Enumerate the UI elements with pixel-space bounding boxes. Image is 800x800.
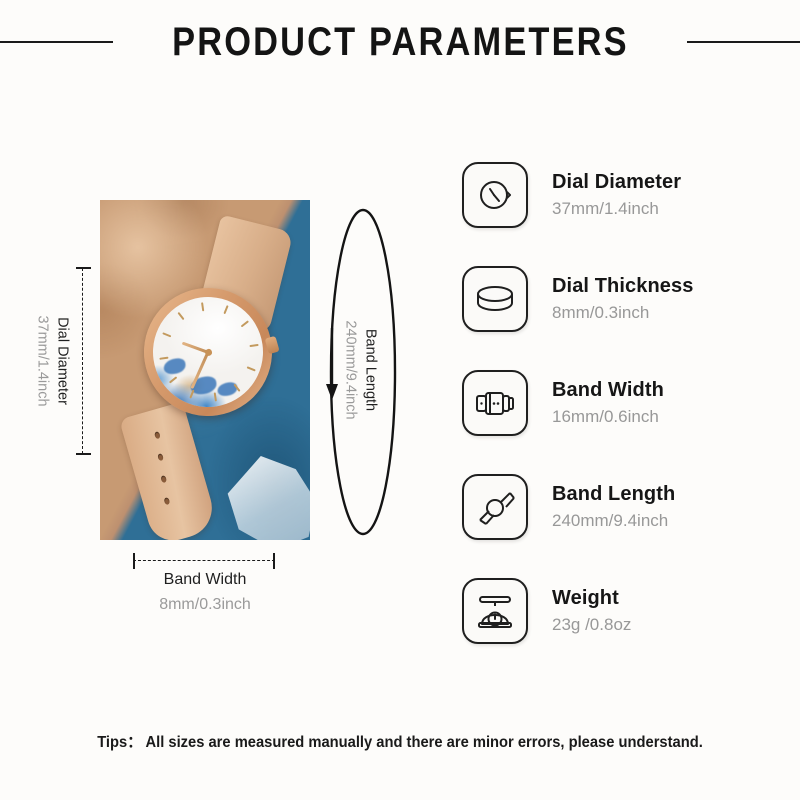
watch-dial-icon (462, 162, 528, 228)
band-width-callout: Band Width 8mm/0.3inch (80, 568, 330, 618)
dial-diameter-dimension-line (82, 268, 83, 454)
page-title-row: PRODUCT PARAMETERS (0, 14, 800, 70)
spec-label: Weight (552, 585, 631, 611)
spec-label: Band Width (552, 377, 664, 403)
spec-text-band-width: Band Width 16mm/0.6inch (552, 377, 664, 428)
spec-value: 37mm/1.4inch (552, 198, 681, 220)
title-rule-right (687, 41, 800, 43)
dial-index (247, 366, 256, 371)
strap-hole (164, 497, 171, 505)
dial-diameter-callout-label: Dial Diameter (55, 317, 71, 405)
spec-label: Dial Diameter (552, 169, 681, 195)
spec-label: Dial Thickness (552, 273, 693, 299)
watch-dial (146, 290, 270, 414)
spec-value: 16mm/0.6inch (552, 406, 664, 428)
strap-hole (157, 453, 164, 461)
dial-index (162, 332, 171, 337)
band-length-callout-text: Band Length 240mm/9.4inch (318, 200, 404, 540)
disc-thickness-icon (462, 266, 528, 332)
dial-diameter-callout: Dial Diameter 37mm/1.4inch (30, 268, 76, 454)
spec-text-band-length: Band Length 240mm/9.4inch (552, 481, 675, 532)
spec-row-band-width: Band Width 16mm/0.6inch (462, 351, 782, 455)
kitchen-scale-icon (462, 578, 528, 644)
band-length-callout-value: 240mm/9.4inch (343, 320, 359, 419)
dial-index (177, 312, 184, 320)
strap-hole (154, 431, 161, 439)
band-width-callout-label: Band Width (164, 571, 247, 588)
watch-band-icon (462, 474, 528, 540)
dial-diameter-callout-value: 37mm/1.4inch (35, 315, 51, 406)
spec-text-dial-diameter: Dial Diameter 37mm/1.4inch (552, 169, 681, 220)
dial-index (223, 305, 228, 314)
spec-text-weight: Weight 23g /0.8oz (552, 585, 631, 636)
spec-row-dial-thickness: Dial Thickness 8mm/0.3inch (462, 247, 782, 351)
spec-list: Dial Diameter 37mm/1.4inch Dial Thicknes… (462, 143, 782, 663)
spec-value: 240mm/9.4inch (552, 510, 675, 532)
spec-value: 8mm/0.3inch (552, 302, 693, 324)
page-title: PRODUCT PARAMETERS (172, 20, 629, 65)
watch-product-photo (100, 200, 310, 540)
spec-row-band-length: Band Length 240mm/9.4inch (462, 455, 782, 559)
photo-background (100, 200, 310, 540)
band-length-callout-label: Band Length (363, 329, 379, 411)
band-width-callout-value: 8mm/0.3inch (159, 596, 251, 613)
spec-text-dial-thickness: Dial Thickness 8mm/0.3inch (552, 273, 693, 324)
spec-row-dial-diameter: Dial Diameter 37mm/1.4inch (462, 143, 782, 247)
strap-hole (160, 475, 167, 483)
dial-index (249, 344, 258, 347)
dial-index (201, 302, 204, 311)
spec-row-weight: Weight 23g /0.8oz (462, 559, 782, 663)
band-width-dimension-line (133, 560, 275, 561)
spec-value: 23g /0.8oz (552, 614, 631, 636)
strap-buckle-icon (462, 370, 528, 436)
title-rule-left (0, 41, 113, 43)
tips-note: Tips： All sizes are measured manually an… (20, 730, 780, 752)
dial-index (241, 320, 249, 327)
spec-label: Band Length (552, 481, 675, 507)
dial-center-pin (204, 348, 212, 356)
band-length-callout: Band Length 240mm/9.4inch (318, 200, 404, 540)
